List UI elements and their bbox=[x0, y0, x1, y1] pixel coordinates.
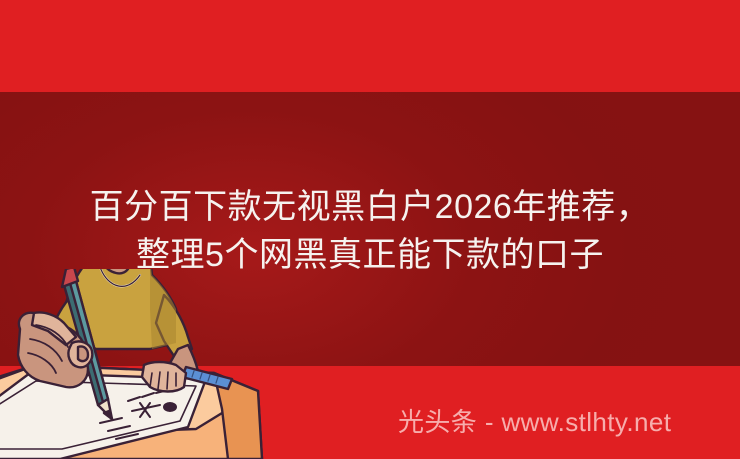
title-line-1: 百分百下款无视黑白户2026年推荐， bbox=[0, 183, 740, 231]
site-watermark: 光头条 - www.stlhty.net bbox=[398, 406, 671, 438]
page-title: 百分百下款无视黑白户2026年推荐， 整理5个网黑真正能下款的口子 bbox=[0, 183, 740, 279]
poster-canvas: 百分百下款无视黑白户2026年推荐， 整理5个网黑真正能下款的口子 光头条 - … bbox=[0, 0, 740, 459]
background-band-top bbox=[0, 0, 740, 92]
title-line-2: 整理5个网黑真正能下款的口子 bbox=[0, 231, 740, 279]
